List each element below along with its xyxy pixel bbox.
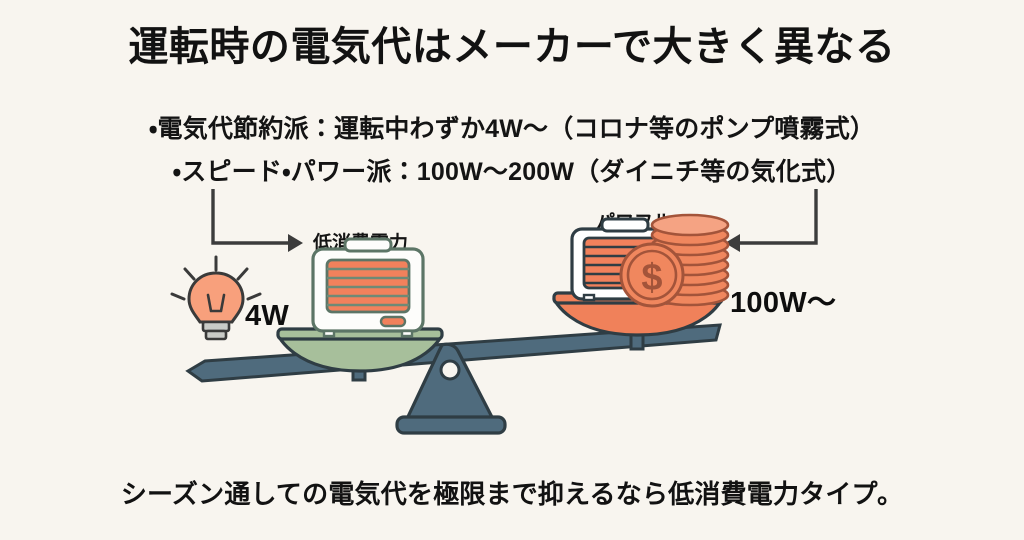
bullet-item-eco: ・電気代節約派：運転中わずか4W〜（コロナ等のポンプ噴霧式） bbox=[0, 108, 1024, 151]
summary-caption: シーズン通しての電気代を極限まで抑えるなら低消費電力タイプ。 bbox=[0, 474, 1024, 511]
slide-root: 運転時の電気代はメーカーで大きく異なる ・電気代節約派：運転中わずか4W〜（コロ… bbox=[0, 0, 1024, 540]
bullet-list: ・電気代節約派：運転中わずか4W〜（コロナ等のポンプ噴霧式） ・スピード・パワー… bbox=[0, 108, 1024, 194]
scale-graphic: $ bbox=[150, 195, 890, 450]
lightbulb-icon bbox=[172, 257, 260, 339]
dollar-coin-icon: $ bbox=[621, 244, 683, 306]
svg-text:$: $ bbox=[641, 257, 662, 299]
bullet-item-power: ・スピード・パワー派：100W〜200W（ダイニチ等の気化式） bbox=[0, 151, 1024, 194]
balance-scale-illustration: 低消費電力 パワフル 4W 100W〜 bbox=[150, 195, 890, 450]
page-title: 運転時の電気代はメーカーで大きく異なる bbox=[0, 24, 1024, 70]
heater-eco-icon bbox=[313, 239, 423, 336]
